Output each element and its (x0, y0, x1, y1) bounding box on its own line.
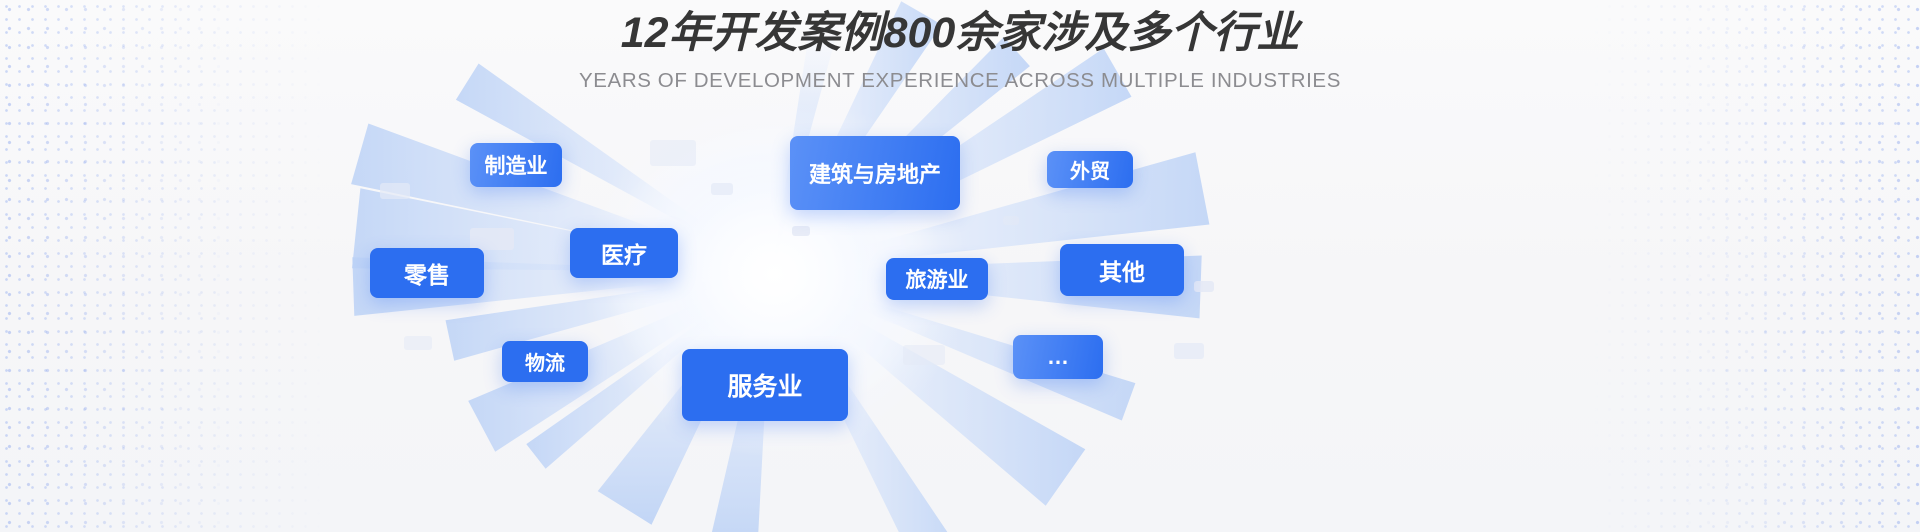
tag-construction[interactable]: 建筑与房地产 (790, 136, 960, 210)
decorative-block (650, 140, 696, 166)
page-title: 12年开发案例800余家涉及多个行业 (0, 8, 1920, 60)
tag-others[interactable]: 其他 (1060, 244, 1184, 296)
decorative-block (404, 336, 432, 350)
tag-services[interactable]: 服务业 (682, 349, 848, 421)
industry-tag-label: … (1047, 344, 1069, 370)
industry-tag-label: 外贸 (1070, 155, 1110, 184)
industry-tag-label: 建筑与房地产 (809, 157, 941, 189)
industry-tag-label: 其他 (1099, 253, 1145, 287)
tag-foreign-trade[interactable]: 外贸 (1047, 151, 1133, 188)
tag-manufacturing[interactable]: 制造业 (470, 143, 562, 187)
industry-tag-label: 制造业 (485, 150, 548, 180)
decorative-block (1003, 216, 1019, 225)
tag-tourism[interactable]: 旅游业 (886, 258, 988, 300)
industry-tag-label: 零售 (404, 256, 450, 290)
industry-tag-label: 医疗 (601, 236, 647, 270)
decorative-block (380, 183, 410, 199)
decorative-block (470, 228, 514, 250)
page-subtitle: YEARS OF DEVELOPMENT EXPERIENCE ACROSS M… (0, 69, 1920, 93)
header: 12年开发案例800余家涉及多个行业 YEARS OF DEVELOPMENT … (0, 8, 1920, 93)
decorative-block (1174, 343, 1204, 359)
decorative-block (1194, 281, 1214, 292)
tag-retail[interactable]: 零售 (370, 248, 484, 298)
tag-ellipsis[interactable]: … (1013, 335, 1103, 379)
decorative-block (711, 183, 733, 195)
industry-tag-label: 旅游业 (906, 264, 969, 294)
tag-healthcare[interactable]: 医疗 (570, 228, 678, 278)
industry-tag-label: 物流 (525, 347, 565, 376)
decorative-block (792, 226, 810, 236)
hero-banner: 12年开发案例800余家涉及多个行业 YEARS OF DEVELOPMENT … (0, 0, 1920, 532)
industry-tag-label: 服务业 (727, 367, 802, 403)
tag-logistics[interactable]: 物流 (502, 341, 588, 382)
decorative-block (903, 345, 945, 365)
